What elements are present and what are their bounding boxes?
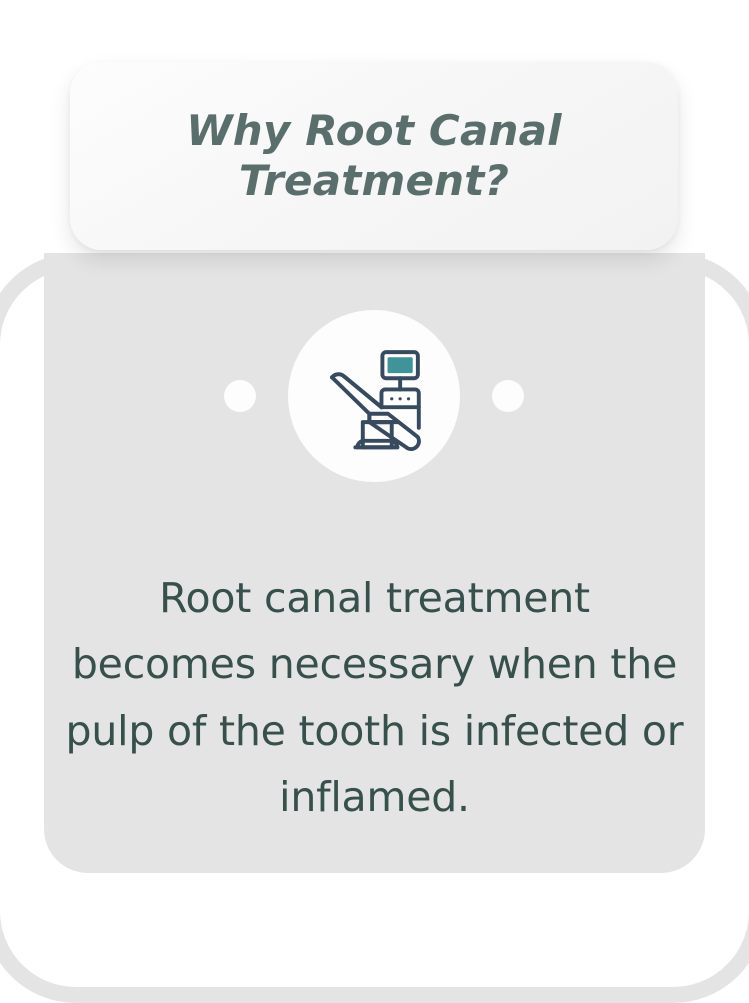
icon-medallion <box>288 310 460 482</box>
decorative-dot-left <box>224 380 256 412</box>
card-body-text: Root canal treatment becomes necessary w… <box>62 565 687 831</box>
title-card: Why Root Canal Treatment? <box>70 62 678 250</box>
dental-chair-icon <box>318 340 430 452</box>
decorative-dot-right <box>492 380 524 412</box>
icon-row <box>44 310 705 482</box>
infographic-card: Why Root Canal Treatment? <box>0 0 749 930</box>
page-title: Why Root Canal Treatment? <box>110 106 638 205</box>
